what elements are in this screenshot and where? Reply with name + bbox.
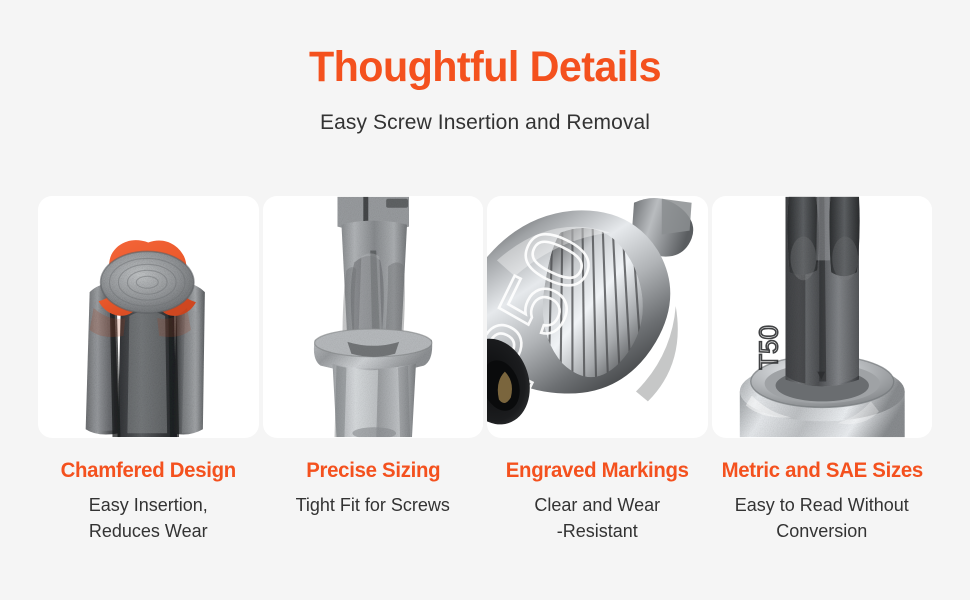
feature-desc-3: Clear and Wear -Resistant xyxy=(487,492,708,544)
engraved-socket-marking-photo: TP50 xyxy=(487,196,708,438)
feature-desc-4-line1: Easy to Read Without xyxy=(712,492,933,518)
feature-caption-2: Precise Sizing Tight Fit for Screws xyxy=(263,458,484,544)
feature-caption-row: Chamfered Design Easy Insertion, Reduces… xyxy=(38,458,932,544)
feature-desc-3-line2: -Resistant xyxy=(487,518,708,544)
chamfered-torx-bit-tip-photo xyxy=(38,196,259,438)
feature-card-3: TP50 xyxy=(487,196,708,438)
bit-engraving-text: T50 xyxy=(755,325,783,369)
feature-desc-4-line2: Conversion xyxy=(712,518,933,544)
page-title: Thoughtful Details xyxy=(19,44,950,90)
feature-card-2 xyxy=(263,196,484,438)
bit-in-screw-head-photo xyxy=(263,196,484,438)
feature-caption-1: Chamfered Design Easy Insertion, Reduces… xyxy=(38,458,259,544)
feature-desc-1-line2: Reduces Wear xyxy=(38,518,259,544)
page-subtitle: Easy Screw Insertion and Removal xyxy=(0,110,970,135)
feature-card-1 xyxy=(38,196,259,438)
feature-desc-1-line1: Easy Insertion, xyxy=(38,492,259,518)
feature-title-3: Engraved Markings xyxy=(490,458,704,484)
feature-desc-4: Easy to Read Without Conversion xyxy=(712,492,933,544)
feature-title-1: Chamfered Design xyxy=(41,458,255,484)
feature-title-4: Metric and SAE Sizes xyxy=(715,458,929,484)
feature-image-row: TP50 xyxy=(38,196,932,438)
feature-caption-3: Engraved Markings Clear and Wear -Resist… xyxy=(487,458,708,544)
feature-card-4: T50 xyxy=(712,196,933,438)
torx-bit-size-marking-photo: T50 xyxy=(712,196,933,438)
feature-title-2: Precise Sizing xyxy=(266,458,480,484)
feature-desc-1: Easy Insertion, Reduces Wear xyxy=(38,492,259,544)
product-feature-banner: Thoughtful Details Easy Screw Insertion … xyxy=(0,0,970,600)
feature-desc-2-line1: Tight Fit for Screws xyxy=(263,492,484,518)
feature-desc-2: Tight Fit for Screws xyxy=(263,492,484,518)
feature-caption-4: Metric and SAE Sizes Easy to Read Withou… xyxy=(712,458,933,544)
banner-header: Thoughtful Details Easy Screw Insertion … xyxy=(0,0,970,136)
feature-desc-3-line1: Clear and Wear xyxy=(487,492,708,518)
